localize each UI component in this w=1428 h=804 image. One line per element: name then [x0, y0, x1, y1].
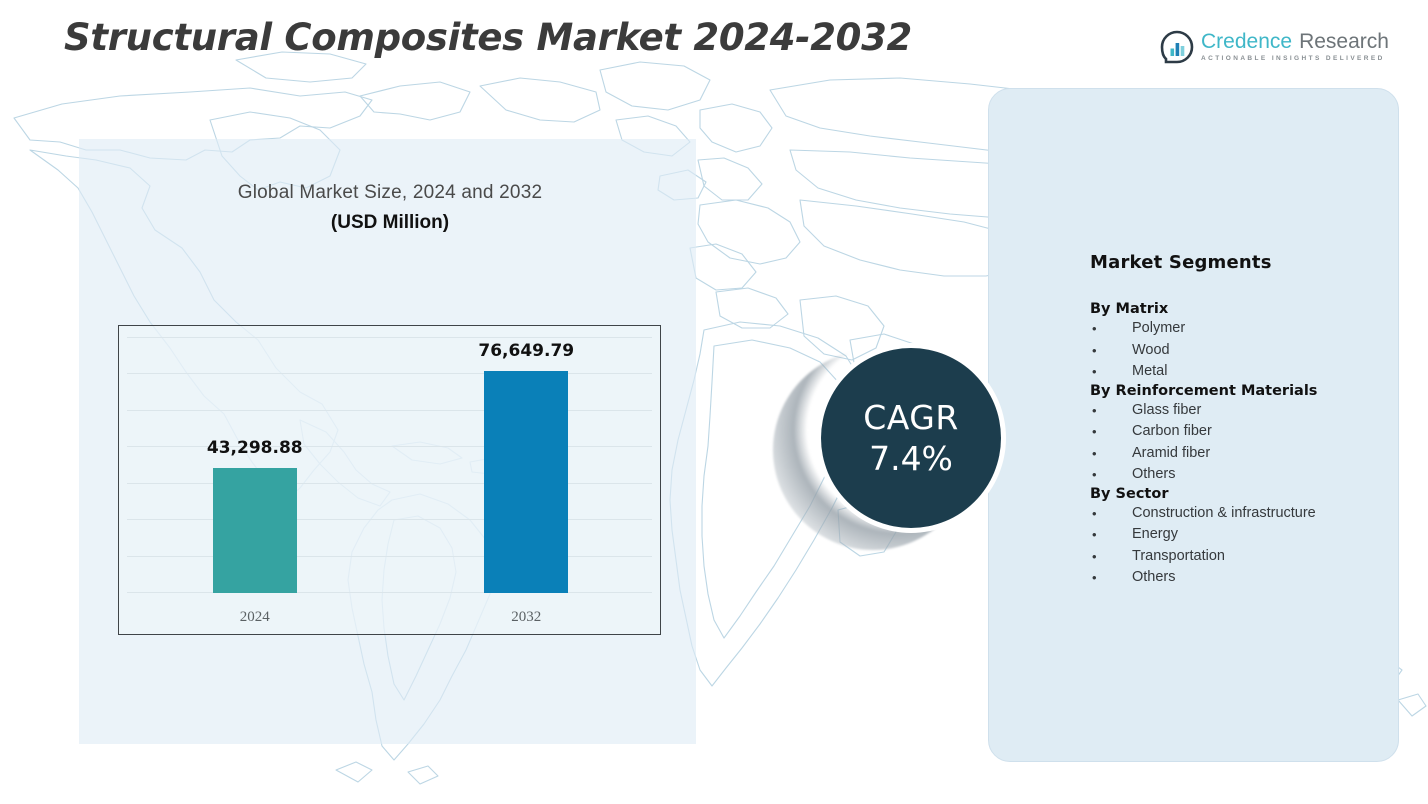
- segment-item-label: Glass fiber: [1132, 400, 1390, 422]
- logo-name-primary: Credence: [1201, 31, 1292, 52]
- segment-group: By Sector•Construction & infrastructure•…: [1090, 486, 1390, 589]
- cagr-label: CAGR: [863, 398, 959, 437]
- segment-item-label: Others: [1132, 464, 1390, 486]
- bullet-icon: •: [1090, 318, 1132, 340]
- chart-plot-area: 43,298.88202476,649.792032: [119, 326, 660, 634]
- page-title: Structural Composites Market 2024-2032: [64, 16, 912, 59]
- bullet-icon: •: [1090, 421, 1132, 443]
- segment-item-label: Energy: [1132, 524, 1390, 546]
- segment-group-heading: By Reinforcement Materials: [1090, 383, 1390, 399]
- bullet-icon: •: [1090, 546, 1132, 568]
- segment-list-item: •Wood: [1090, 340, 1390, 362]
- segment-item-label: Aramid fiber: [1132, 443, 1390, 465]
- bullet-icon: •: [1090, 443, 1132, 465]
- segment-group: By Reinforcement Materials•Glass fiber•C…: [1090, 383, 1390, 486]
- bullet-icon: •: [1090, 503, 1132, 525]
- x-axis-label-2024: 2024: [240, 609, 270, 626]
- bullet-icon: •: [1090, 567, 1132, 589]
- bar-chart: 43,298.88202476,649.792032: [118, 325, 661, 635]
- bar-2024: 43,298.88: [213, 468, 297, 593]
- cagr-value: 7.4%: [869, 439, 953, 478]
- segment-item-label: Polymer: [1132, 318, 1390, 340]
- segments-groups: By Matrix•Polymer•Wood•MetalBy Reinforce…: [1090, 301, 1390, 589]
- segment-item-label: Carbon fiber: [1132, 421, 1390, 443]
- segment-list-item: •Carbon fiber: [1090, 421, 1390, 443]
- bullet-icon: •: [1090, 340, 1132, 362]
- bullet-icon: •: [1090, 361, 1132, 383]
- cagr-badge: CAGR 7.4%: [765, 338, 1035, 578]
- segment-group-heading: By Sector: [1090, 486, 1390, 502]
- chart-caption-line1: Global Market Size, 2024 and 2032: [110, 182, 670, 204]
- chart-caption: Global Market Size, 2024 and 2032 (USD M…: [110, 182, 670, 234]
- bar-chart-circle-icon: [1160, 30, 1194, 64]
- segment-item-label: Others: [1132, 567, 1390, 589]
- segments-title: Market Segments: [1090, 252, 1390, 273]
- bar-value-label: 43,298.88: [207, 438, 303, 458]
- segment-list-item: •Energy: [1090, 524, 1390, 546]
- segment-group-heading: By Matrix: [1090, 301, 1390, 317]
- segment-group: By Matrix•Polymer•Wood•Metal: [1090, 301, 1390, 383]
- segment-item-label: Wood: [1132, 340, 1390, 362]
- segment-list-item: •Polymer: [1090, 318, 1390, 340]
- x-axis-label-2032: 2032: [511, 609, 541, 626]
- bullet-icon: •: [1090, 400, 1132, 422]
- chart-caption-line2: (USD Million): [110, 212, 670, 234]
- segment-list-item: •Metal: [1090, 361, 1390, 383]
- segment-item-label: Transportation: [1132, 546, 1390, 568]
- bar-rect: [213, 468, 297, 593]
- logo-name-secondary: Research: [1299, 31, 1389, 52]
- segment-list-item: •Aramid fiber: [1090, 443, 1390, 465]
- bullet-icon: •: [1090, 464, 1132, 486]
- segment-list-item: •Others: [1090, 567, 1390, 589]
- cagr-circle: CAGR 7.4%: [821, 348, 1001, 528]
- bullet-icon: •: [1090, 524, 1132, 546]
- bar-rect: [484, 371, 568, 593]
- bar-2032: 76,649.79: [484, 371, 568, 593]
- bar-value-label: 76,649.79: [478, 341, 574, 361]
- segment-list-item: •Others: [1090, 464, 1390, 486]
- segment-list-item: •Construction & infrastructure: [1090, 503, 1390, 525]
- infographic-canvas: Structural Composites Market 2024-2032 C…: [0, 0, 1428, 804]
- segment-list-item: •Transportation: [1090, 546, 1390, 568]
- segment-list-item: •Glass fiber: [1090, 400, 1390, 422]
- logo-tagline: Actionable Insights Delivered: [1201, 56, 1389, 63]
- segment-item-label: Metal: [1132, 361, 1390, 383]
- brand-logo: Credence Research Actionable Insights De…: [1160, 30, 1389, 64]
- segment-item-label: Construction & infrastructure: [1132, 503, 1390, 525]
- market-segments: Market Segments By Matrix•Polymer•Wood•M…: [1090, 252, 1390, 589]
